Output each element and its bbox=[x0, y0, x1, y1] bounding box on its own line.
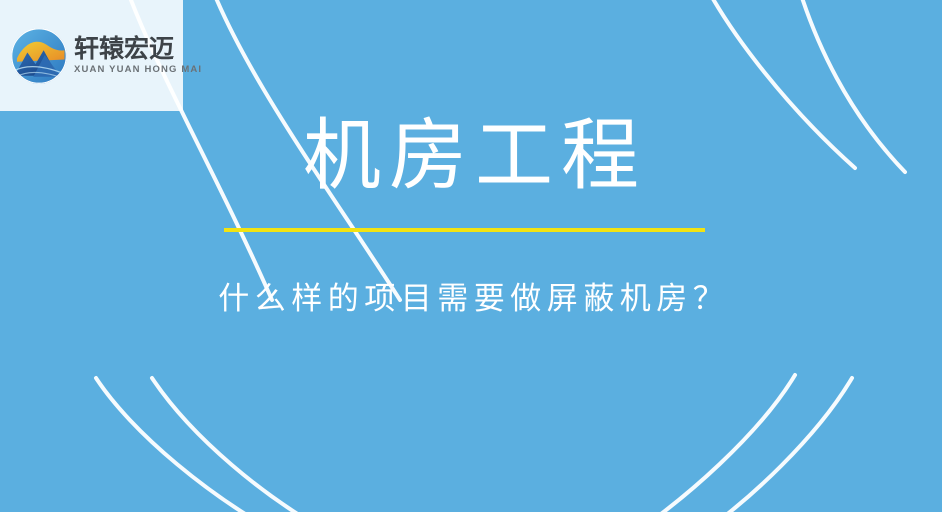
brand-text-block: 轩辕宏迈 XUAN YUAN HONG MAI bbox=[74, 36, 202, 75]
title-divider-rule bbox=[224, 228, 705, 232]
poster-canvas: 轩辕宏迈 XUAN YUAN HONG MAI 机房工程 什么样的项目需要做屏蔽… bbox=[0, 0, 942, 512]
arc-bottom-left-outer bbox=[96, 378, 300, 512]
arc-bottom-left-inner bbox=[152, 378, 352, 512]
brand-name-cn: 轩辕宏迈 bbox=[74, 36, 202, 61]
arc-bottom-right-outer bbox=[612, 375, 795, 512]
brand-name-pinyin: XUAN YUAN HONG MAI bbox=[74, 65, 202, 75]
page-subtitle: 什么样的项目需要做屏蔽机房？ bbox=[0, 280, 942, 319]
page-title: 机房工程 bbox=[0, 110, 942, 202]
mountain-wave-circle-logo-icon bbox=[10, 27, 68, 85]
arc-bottom-right-inner bbox=[680, 378, 852, 512]
brand-logo-panel[interactable]: 轩辕宏迈 XUAN YUAN HONG MAI bbox=[0, 0, 183, 111]
